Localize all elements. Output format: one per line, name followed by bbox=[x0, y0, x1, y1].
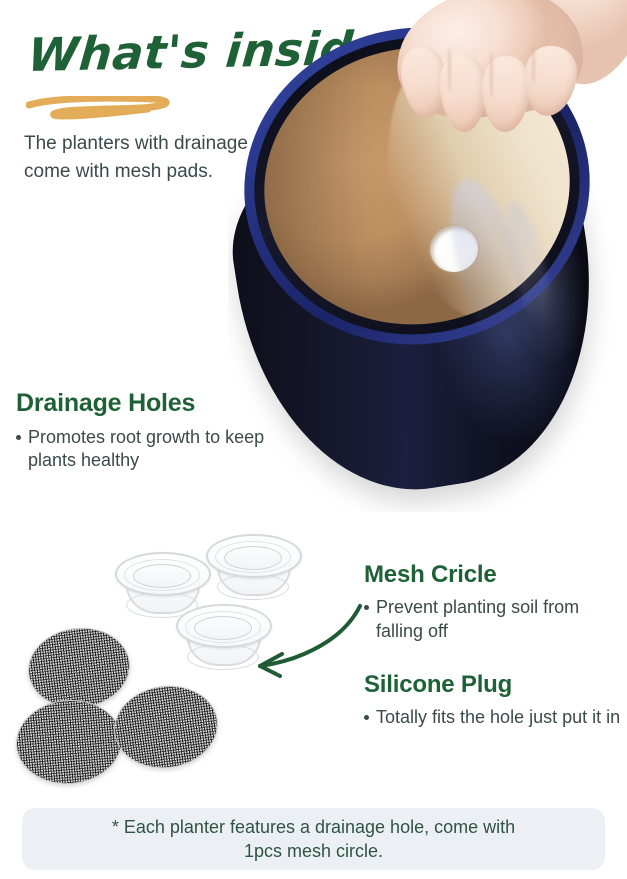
bullet-text: Prevent planting soil from falling off bbox=[376, 596, 622, 644]
finger-crease-1 bbox=[448, 48, 451, 92]
bullet-text: Promotes root growth to keep plants heal… bbox=[28, 426, 276, 474]
section-heading-mesh-circle: Mesh Cricle bbox=[364, 562, 622, 588]
curved-arrow-icon bbox=[246, 596, 366, 682]
silicone-plug-2 bbox=[206, 534, 298, 600]
plug-bore bbox=[194, 616, 252, 640]
mesh-circle-2 bbox=[13, 696, 126, 789]
finger-crease-3 bbox=[532, 44, 535, 84]
bullet-dot-icon bbox=[364, 715, 369, 720]
bullet-dot-icon bbox=[16, 435, 21, 440]
finger-crease-2 bbox=[490, 52, 493, 98]
infographic-page: What's inside? The planters with drainag… bbox=[0, 0, 627, 879]
bullet-item: Promotes root growth to keep plants heal… bbox=[16, 426, 276, 474]
title-underline-swoosh bbox=[26, 96, 174, 120]
footer-note-line1: * Each planter features a drainage hole,… bbox=[112, 817, 515, 837]
footer-note-line2: 1pcs mesh circle. bbox=[244, 841, 383, 861]
section-drainage-holes: Drainage Holes Promotes root growth to k… bbox=[16, 390, 276, 473]
bullet-dot-icon bbox=[364, 605, 369, 610]
planter-pot-photo bbox=[228, 0, 627, 512]
mesh-circle-3 bbox=[109, 679, 223, 775]
finger-3 bbox=[481, 55, 532, 133]
footer-note-panel: * Each planter features a drainage hole,… bbox=[22, 808, 605, 870]
plug-bore bbox=[224, 546, 282, 570]
section-silicone-plug: Silicone Plug Totally fits the hole just… bbox=[364, 672, 622, 730]
section-heading-drainage-holes: Drainage Holes bbox=[16, 390, 276, 418]
section-mesh-circle: Mesh Cricle Prevent planting soil from f… bbox=[364, 562, 622, 644]
bullet-item: Totally fits the hole just put it in bbox=[364, 706, 622, 730]
finger-2 bbox=[438, 53, 488, 133]
section-heading-silicone-plug: Silicone Plug bbox=[364, 672, 622, 698]
hand-holding-pot bbox=[396, 0, 627, 138]
footer-note-text: * Each planter features a drainage hole,… bbox=[112, 815, 515, 863]
bullet-item: Prevent planting soil from falling off bbox=[364, 596, 622, 644]
plug-bore bbox=[133, 564, 191, 588]
bullet-text: Totally fits the hole just put it in bbox=[376, 706, 620, 730]
